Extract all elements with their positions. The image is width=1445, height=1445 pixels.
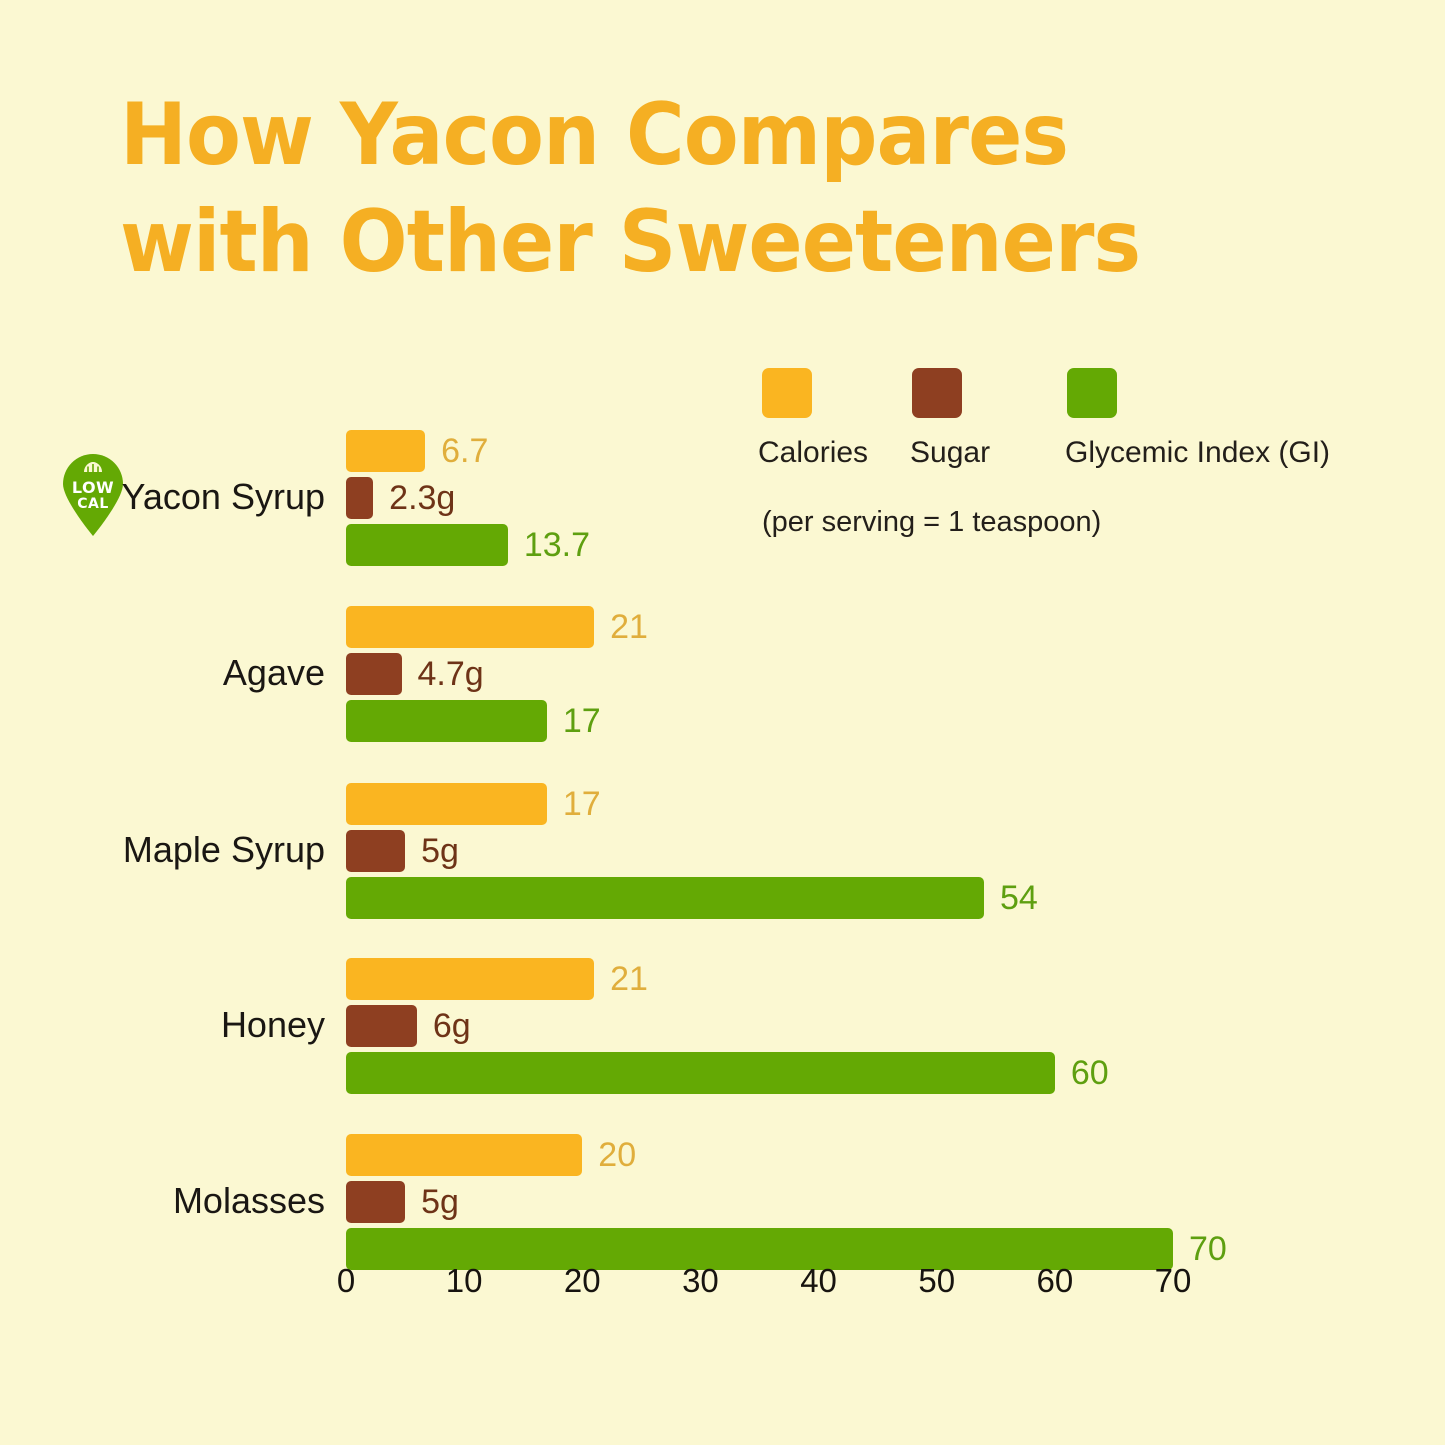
bar-value-label: 4.7g xyxy=(418,653,484,695)
bar-sugar xyxy=(346,1181,405,1223)
x-axis-tick: 60 xyxy=(1025,1262,1085,1300)
bar-value-label: 17 xyxy=(563,700,601,742)
bar-value-label: 20 xyxy=(598,1134,636,1176)
category-label: Yacon Syrup xyxy=(122,475,325,519)
bar-value-label: 17 xyxy=(563,783,601,825)
bar-sugar xyxy=(346,1005,417,1047)
bar-glycemic-index-gi xyxy=(346,524,508,566)
bar-sugar xyxy=(346,653,402,695)
bar-value-label: 60 xyxy=(1071,1052,1109,1094)
bar-glycemic-index-gi xyxy=(346,700,547,742)
category-label: Molasses xyxy=(173,1179,325,1223)
category-label: Honey xyxy=(221,1003,325,1047)
bar-glycemic-index-gi xyxy=(346,1052,1055,1094)
bar-calories xyxy=(346,1134,582,1176)
bar-chart: Yacon Syrup6.72.3g13.7Agave214.7g17Maple… xyxy=(0,0,1445,1445)
bar-calories xyxy=(346,430,425,472)
bar-value-label: 13.7 xyxy=(524,524,590,566)
bar-glycemic-index-gi xyxy=(346,877,984,919)
bar-value-label: 2.3g xyxy=(389,477,455,519)
bar-value-label: 21 xyxy=(610,606,648,648)
category-label: Maple Syrup xyxy=(123,828,325,872)
bar-calories xyxy=(346,958,594,1000)
bar-value-label: 6.7 xyxy=(441,430,488,472)
x-axis-tick: 20 xyxy=(552,1262,612,1300)
x-axis-tick: 0 xyxy=(316,1262,376,1300)
bar-value-label: 54 xyxy=(1000,877,1038,919)
bar-sugar xyxy=(346,830,405,872)
bar-value-label: 5g xyxy=(421,1181,459,1223)
bar-value-label: 5g xyxy=(421,830,459,872)
bar-calories xyxy=(346,606,594,648)
x-axis-tick: 70 xyxy=(1143,1262,1203,1300)
x-axis-tick: 50 xyxy=(907,1262,967,1300)
category-label: Agave xyxy=(223,651,325,695)
x-axis-tick: 30 xyxy=(670,1262,730,1300)
bar-calories xyxy=(346,783,547,825)
bar-value-label: 6g xyxy=(433,1005,471,1047)
bar-value-label: 21 xyxy=(610,958,648,1000)
x-axis-tick: 40 xyxy=(789,1262,849,1300)
x-axis-tick: 10 xyxy=(434,1262,494,1300)
bar-sugar xyxy=(346,477,373,519)
